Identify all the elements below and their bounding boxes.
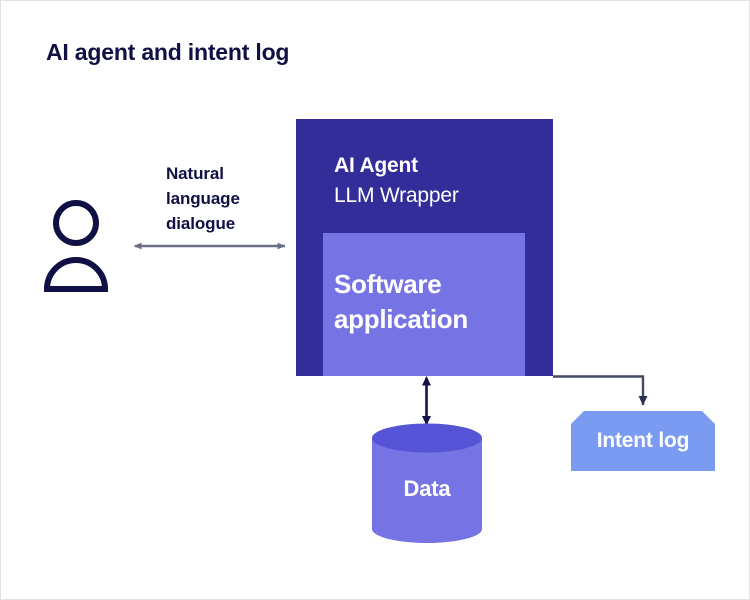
natural-language-dialogue-label: Natural language dialogue xyxy=(166,161,296,236)
data-label: Data xyxy=(372,476,482,502)
dialogue-label-line3: dialogue xyxy=(166,211,296,236)
software-application-label: Software application xyxy=(334,267,524,337)
agent-intent-log-arrow xyxy=(553,377,643,406)
software-application-label-line2: application xyxy=(334,302,524,337)
dialogue-label-line2: language xyxy=(166,186,296,211)
intent-log-label: Intent log xyxy=(571,429,715,453)
person-icon xyxy=(44,203,108,289)
diagram-canvas: AI agent and intent log xyxy=(0,0,750,600)
dialogue-label-line1: Natural xyxy=(166,161,296,186)
ai-agent-subtitle: LLM Wrapper xyxy=(334,184,459,208)
software-application-label-line1: Software xyxy=(334,267,524,302)
ai-agent-title: AI Agent xyxy=(334,154,418,178)
